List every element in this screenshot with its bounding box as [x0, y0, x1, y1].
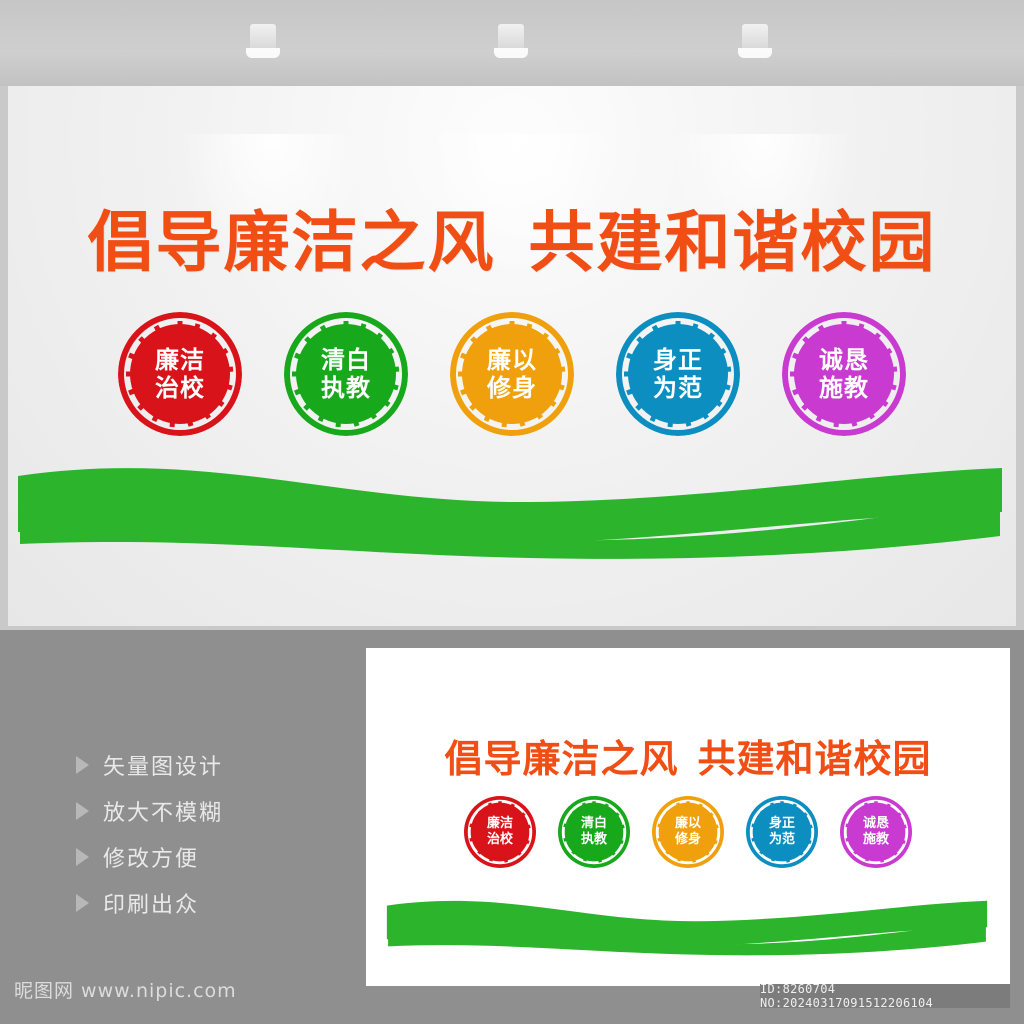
triangle-bullet-icon	[76, 802, 89, 820]
medallion-inner: 清白 执教	[567, 805, 621, 859]
medallion-inner: 身正 为范	[631, 327, 725, 421]
mini-green-wave-graphic	[382, 884, 992, 956]
mini-headline-part-1: 倡导廉洁之风	[444, 737, 678, 781]
medallion-line-2: 施教	[819, 374, 869, 402]
mini-medallion-shenzheng-weifan: 身正 为范	[746, 796, 818, 868]
medallion-row: 廉洁 治校 清白	[0, 312, 1024, 436]
ceiling-lamp-icon	[250, 24, 276, 50]
medallion-line-2: 执教	[581, 832, 607, 848]
mini-medallion-lianjie-zhixiao: 廉洁 治校	[464, 796, 536, 868]
medallion-inner: 廉洁 治校	[473, 805, 527, 859]
medallion-line-1: 清白	[581, 816, 607, 832]
triangle-bullet-icon	[76, 756, 89, 774]
medallion-inner: 清白 执教	[299, 327, 393, 421]
feature-list: 矢量图设计 放大不模糊 修改方便 印刷出众	[76, 742, 223, 926]
medallion-inner: 诚恳 施教	[797, 327, 891, 421]
site-watermark: 昵图网 www.nipic.com	[14, 976, 237, 1003]
medallion-line-1: 清白	[321, 346, 371, 374]
medallion-inner: 身正 为范	[755, 805, 809, 859]
mini-medallion-chengken-shijiao: 诚恳 施教	[840, 796, 912, 868]
medallion-line-2: 修身	[675, 832, 701, 848]
medallion-line-2: 为范	[653, 374, 703, 402]
ceiling	[0, 0, 1024, 86]
feature-item: 矢量图设计	[76, 742, 223, 788]
medallion-line-1: 诚恳	[863, 816, 889, 832]
headline-part-2: 共建和谐校园	[529, 204, 937, 281]
feature-label: 放大不模糊	[103, 795, 223, 827]
medallion-chengken-shijiao: 诚恳 施教	[782, 312, 906, 436]
medallion-shenzheng-weifan: 身正 为范	[616, 312, 740, 436]
medallion-line-2: 治校	[155, 374, 205, 402]
mini-medallion-lianyi-xiushen: 廉以 修身	[652, 796, 724, 868]
feature-item: 修改方便	[76, 834, 223, 880]
medallion-line-2: 治校	[487, 832, 513, 848]
medallion-qingbai-zhijiao: 清白 执教	[284, 312, 408, 436]
medallion-line-1: 诚恳	[819, 346, 869, 374]
mini-medallion-qingbai-zhijiao: 清白 执教	[558, 796, 630, 868]
poster-headline: 倡导廉洁之风共建和谐校园	[0, 208, 1024, 278]
feature-label: 修改方便	[103, 841, 199, 873]
medallion-inner: 廉洁 治校	[133, 327, 227, 421]
medallion-line-1: 廉以	[487, 346, 537, 374]
medallion-lianyi-xiushen: 廉以 修身	[450, 312, 574, 436]
feature-item: 印刷出众	[76, 880, 223, 926]
feature-label: 矢量图设计	[103, 749, 223, 781]
green-wave-graphic	[10, 440, 1010, 560]
ceiling-lamp-icon	[742, 24, 768, 50]
headline-part-1: 倡导廉洁之风	[88, 204, 496, 281]
medallion-inner: 诚恳 施教	[849, 805, 903, 859]
medallion-line-1: 身正	[769, 816, 795, 832]
medallion-line-2: 施教	[863, 832, 889, 848]
medallion-line-1: 廉洁	[155, 346, 205, 374]
mini-poster-headline: 倡导廉洁之风共建和谐校园	[366, 738, 1010, 780]
medallion-line-1: 廉洁	[487, 816, 513, 832]
feature-item: 放大不模糊	[76, 788, 223, 834]
medallion-line-2: 为范	[769, 832, 795, 848]
medallion-line-1: 廉以	[675, 816, 701, 832]
mini-medallion-row: 廉洁 治校 清白 执教	[366, 796, 1010, 868]
wall-preview-area: 倡导廉洁之风共建和谐校园 廉洁	[0, 0, 1024, 630]
asset-id-badge: ID:8260704 NO:20240317091512206104	[760, 984, 1010, 1008]
medallion-line-1: 身正	[653, 346, 703, 374]
medallion-line-2: 修身	[487, 374, 537, 402]
mini-headline-part-2: 共建和谐校园	[698, 737, 932, 781]
ceiling-lamp-icon	[498, 24, 524, 50]
medallion-inner: 廉以 修身	[661, 805, 715, 859]
triangle-bullet-icon	[76, 894, 89, 912]
medallion-lianjie-zhixiao: 廉洁 治校	[118, 312, 242, 436]
triangle-bullet-icon	[76, 848, 89, 866]
medallion-line-2: 执教	[321, 374, 371, 402]
medallion-inner: 廉以 修身	[465, 327, 559, 421]
feature-label: 印刷出众	[103, 887, 199, 919]
